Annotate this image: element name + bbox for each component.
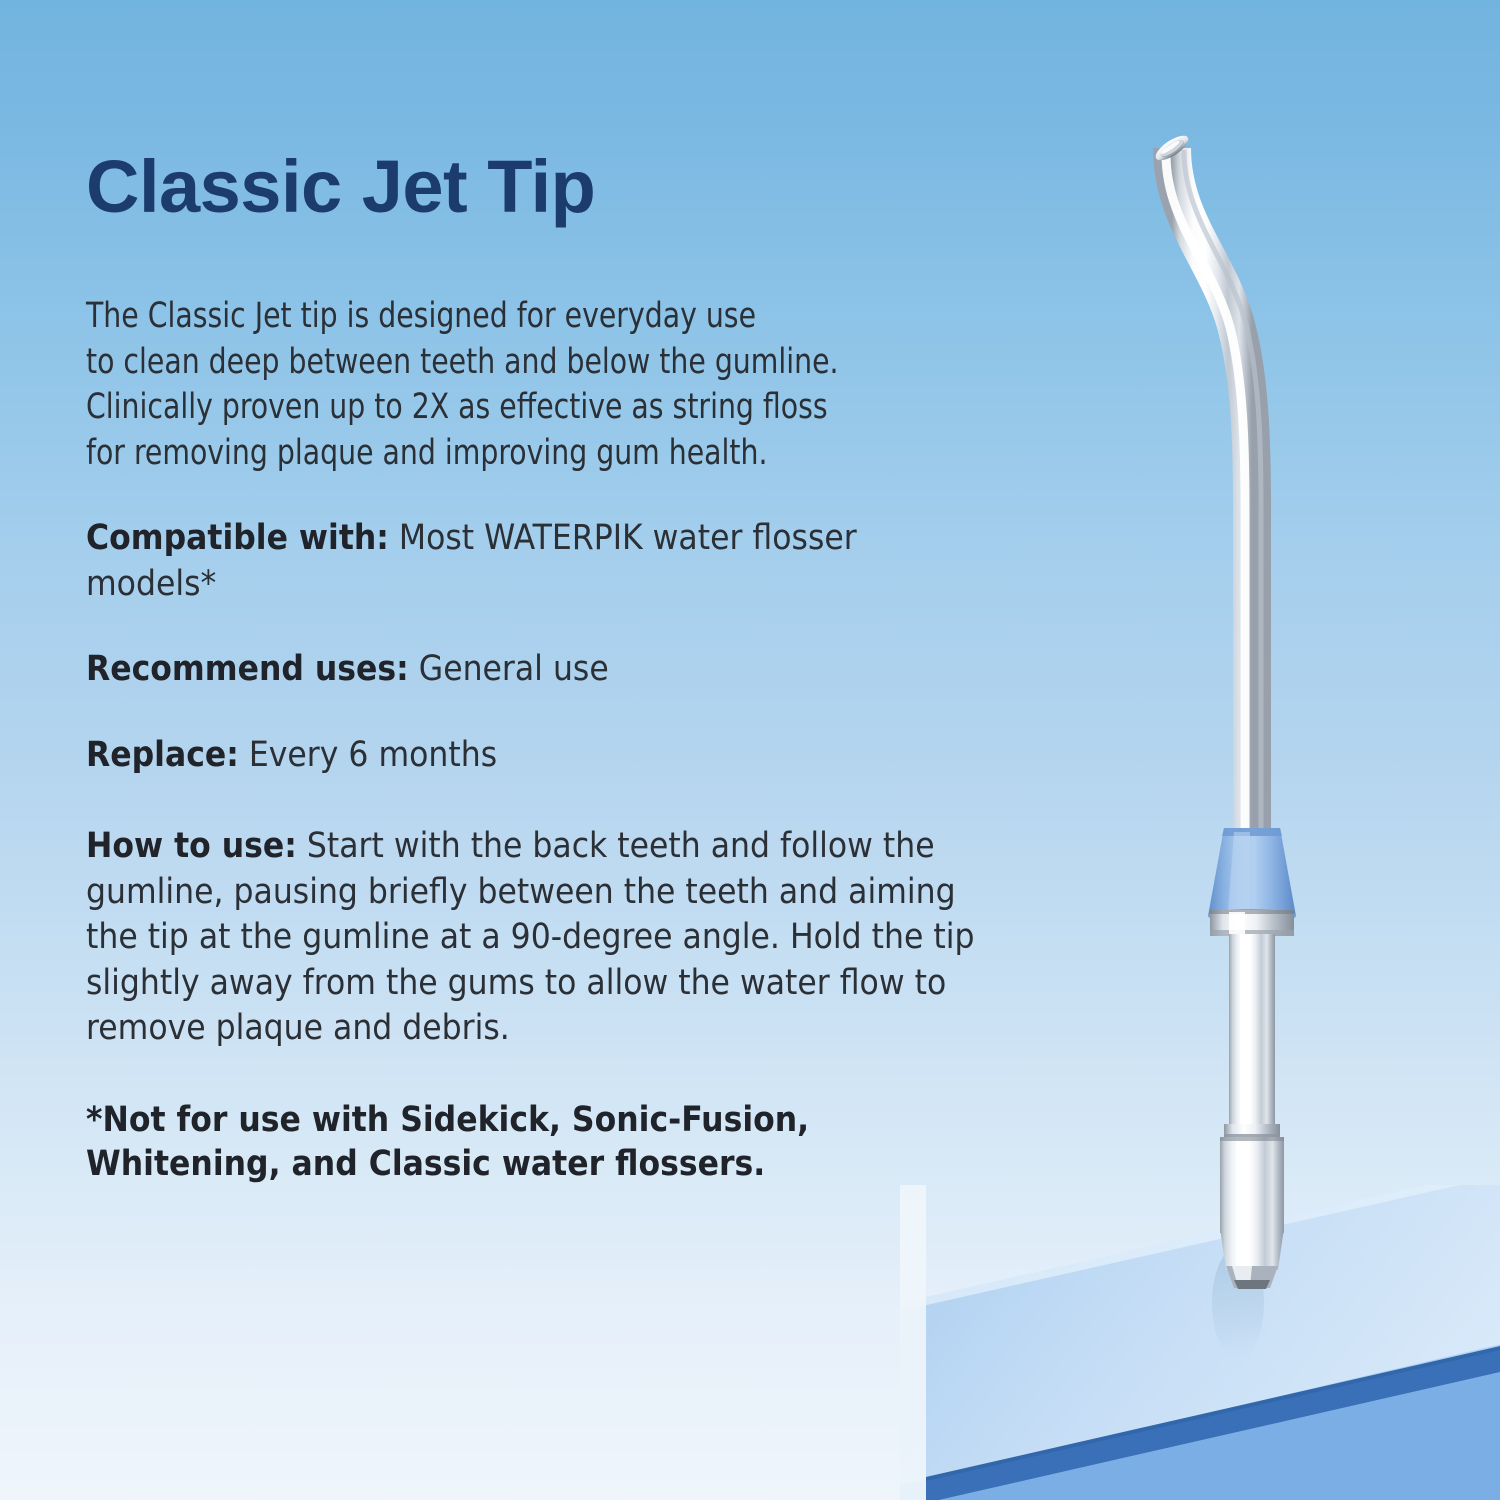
jet-tip-curved-tube bbox=[1172, 148, 1252, 852]
spec-compatible-with: Compatible with: Most WATERPIK water flo… bbox=[86, 516, 968, 607]
spec-recommend-uses: Recommend uses: General use bbox=[86, 647, 968, 693]
spec-label: Compatible with: bbox=[86, 518, 389, 558]
pedestal-lower-face bbox=[926, 1363, 1500, 1500]
page-title: Classic Jet Tip bbox=[86, 150, 1066, 224]
jet-tip-bottom-contact bbox=[1226, 1266, 1278, 1289]
jet-tip-base-step-1 bbox=[1224, 1124, 1280, 1139]
spec-value: General use bbox=[409, 649, 609, 689]
pedestal-top-face bbox=[900, 1185, 1500, 1485]
intro-paragraph: The Classic Jet tip is designed for ever… bbox=[86, 294, 968, 476]
jet-tip-highlight bbox=[1166, 154, 1245, 852]
spec-value: Every 6 months bbox=[239, 735, 497, 775]
pedestal-stripe-layer bbox=[900, 1185, 1500, 1500]
pedestal-stripe-graphic bbox=[900, 1185, 1500, 1500]
jet-tip-base-step-2 bbox=[1220, 1137, 1284, 1233]
jet-tip-blue-collar bbox=[1208, 828, 1296, 923]
how-to-use-section: How to use: Start with the back teeth an… bbox=[86, 824, 986, 1052]
pedestal-platform bbox=[900, 1185, 1500, 1500]
jet-tip-lower-shaft bbox=[1229, 934, 1275, 1130]
jet-tip-nozzle-opening bbox=[1152, 131, 1192, 165]
pedestal-graphic bbox=[900, 1185, 1500, 1500]
jet-tip-chrome-ring bbox=[1210, 910, 1294, 936]
spec-label: Recommend uses: bbox=[86, 649, 409, 689]
jet-tip-base-step-3 bbox=[1220, 1228, 1284, 1270]
spec-replace: Replace: Every 6 months bbox=[86, 733, 968, 779]
how-to-use-label: How to use: bbox=[86, 826, 297, 866]
pedestal-dark-stripe bbox=[926, 1337, 1500, 1500]
footnote-disclaimer: *Not for use with Sidekick, Sonic-Fusion… bbox=[86, 1098, 986, 1188]
text-column: Classic Jet Tip The Classic Jet tip is d… bbox=[86, 150, 1066, 1187]
spec-label: Replace: bbox=[86, 735, 239, 775]
pedestal-front-face bbox=[900, 1335, 1500, 1500]
product-infographic: Classic Jet Tip The Classic Jet tip is d… bbox=[0, 0, 1500, 1500]
classic-jet-tip-image bbox=[1100, 110, 1360, 1290]
jet-tip-graphic bbox=[1100, 110, 1360, 1290]
